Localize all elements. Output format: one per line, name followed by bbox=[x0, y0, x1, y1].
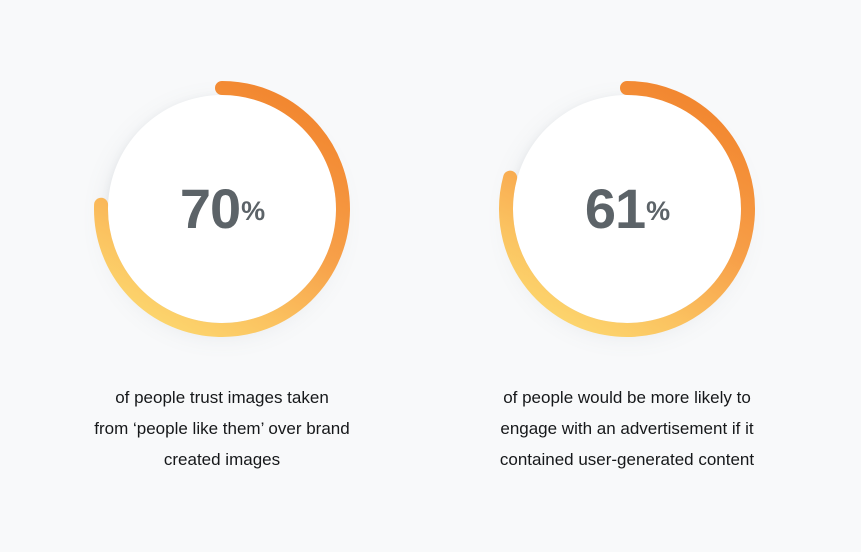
gauge-arc-chart bbox=[87, 74, 357, 344]
stat-caption-engage-ad: of people would be more likely to engage… bbox=[462, 382, 792, 475]
stat-caption-trust-images: of people trust images taken from ‘peopl… bbox=[57, 382, 387, 475]
stat-block-trust-images: 70% of people trust images taken from ‘p… bbox=[7, 0, 437, 552]
gauge-arc-progress bbox=[101, 88, 343, 330]
gauge-arc-chart bbox=[492, 74, 762, 344]
stat-block-engage-ad: 61% of people would be more likely to en… bbox=[412, 0, 842, 552]
gauge-trust-images: 70% bbox=[87, 74, 357, 344]
caption-line-1: of people would be more likely to bbox=[462, 382, 792, 413]
gauge-engage-ad: 61% bbox=[492, 74, 762, 344]
gauge-arc-progress bbox=[506, 88, 748, 330]
caption-line-3: contained user-generated content bbox=[462, 444, 792, 475]
caption-line-1: of people trust images taken bbox=[57, 382, 387, 413]
caption-line-3: created images bbox=[57, 444, 387, 475]
caption-line-2: from ‘people like them’ over brand bbox=[57, 413, 387, 444]
infographic-canvas: 70% of people trust images taken from ‘p… bbox=[0, 0, 861, 552]
caption-line-2: engage with an advertisement if it bbox=[462, 413, 792, 444]
